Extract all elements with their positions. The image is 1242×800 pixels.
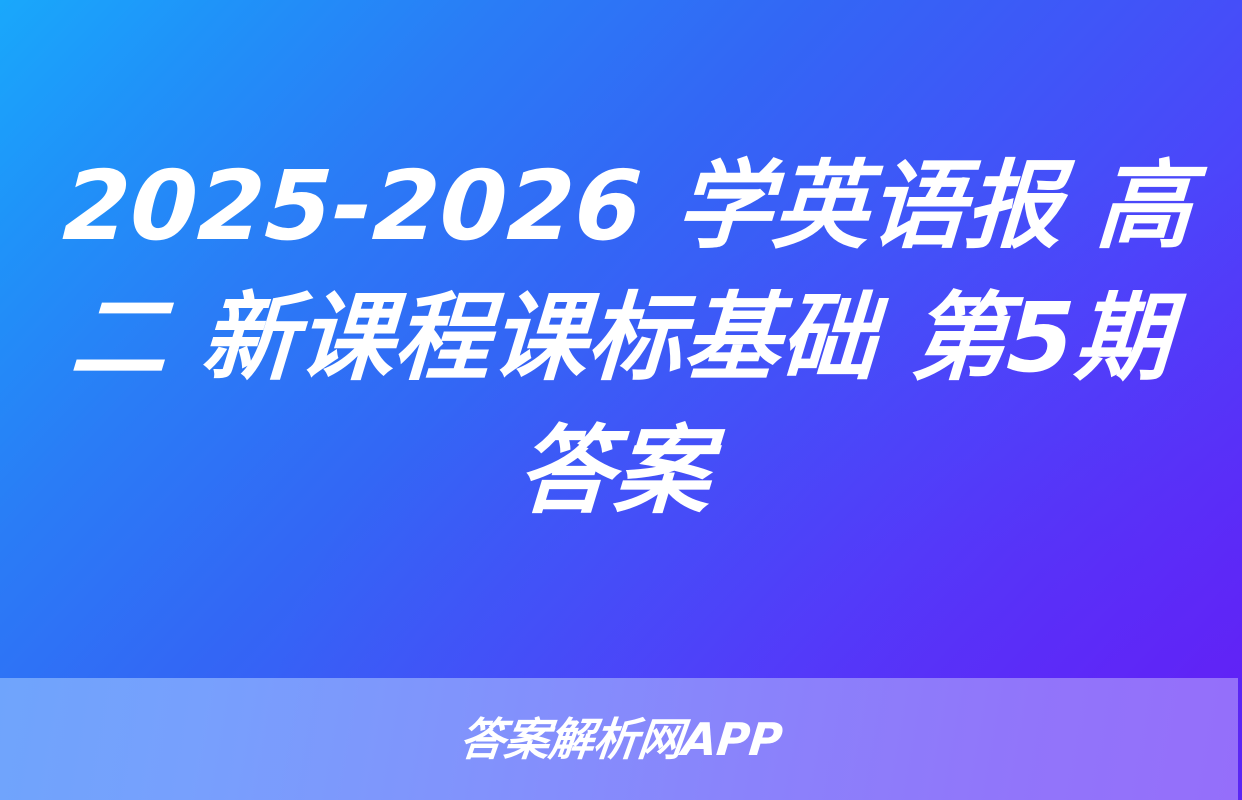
- page-title: 2025-2026 学英语报 高二 新课程课标基础 第5期答案: [38, 140, 1205, 537]
- watermark-text: 答案解析网APP: [458, 717, 785, 762]
- poster-canvas: 2025-2026 学英语报 高二 新课程课标基础 第5期答案 答案解析网APP: [0, 0, 1242, 800]
- title-container: 2025-2026 学英语报 高二 新课程课标基础 第5期答案: [0, 0, 1242, 678]
- watermark-band: 答案解析网APP: [0, 678, 1242, 800]
